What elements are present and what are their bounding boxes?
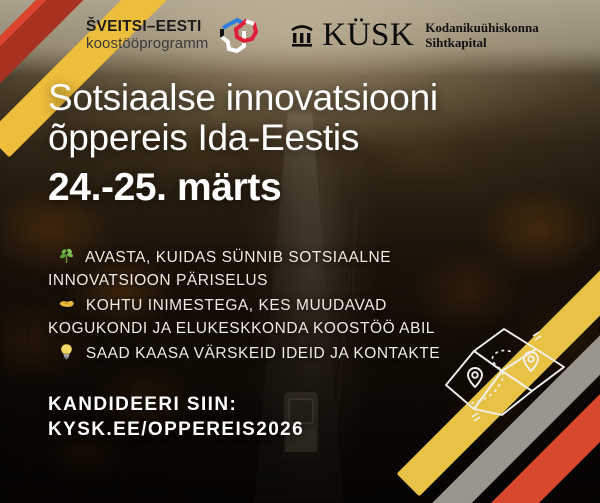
interlocking-octagons-icon	[217, 15, 259, 55]
list-item: SAAD KAASA VÄRSKEID IDEID JA KONTAKTE	[48, 342, 448, 366]
list-item: AVASTA, KUIDAS SÜNNIB SOTSIAALNE INNOVAT…	[48, 246, 448, 293]
kusk-logo: KÜSK Kodanikuühiskonna Sihtkapital	[289, 19, 538, 52]
list-item: KOHTU INIMESTEGA, KES MUUDAVAD KOGUKONDI…	[48, 294, 448, 341]
kusk-subtitle: Kodanikuühiskonna Sihtkapital	[425, 20, 538, 51]
benefit-list: AVASTA, KUIDAS SÜNNIB SOTSIAALNE INNOVAT…	[48, 246, 448, 366]
poster-headline: Sotsiaalse innovatsiooni õppereis Ida-Ee…	[48, 78, 558, 158]
swiss-estonian-logo: ŠVEITSI–EESTI koostööprogramm	[86, 15, 259, 55]
event-date: 24.-25. märts	[48, 168, 558, 209]
kusk-wordmark: KÜSK	[322, 19, 414, 52]
cta-label: KANDIDEERI SIIN:	[48, 392, 558, 417]
swiss-logo-wordmark: ŠVEITSI–EESTI koostööprogramm	[86, 19, 208, 51]
partner-logo-row: ŠVEITSI–EESTI koostööprogramm	[0, 0, 600, 70]
call-to-action[interactable]: KANDIDEERI SIIN: KYSK.EE/OPPEREIS2026	[48, 392, 558, 442]
seedling-icon	[58, 247, 75, 264]
poster-content: Sotsiaalse innovatsiooni õppereis Ida-Ee…	[48, 78, 558, 442]
swiss-logo-line1: ŠVEITSI–EESTI	[86, 19, 208, 35]
kusk-subtitle-line2: Sihtkapital	[425, 35, 538, 50]
list-item-label: AVASTA, KUIDAS SÜNNIB SOTSIAALNE INNOVAT…	[48, 249, 391, 290]
light-bulb-icon	[58, 343, 75, 360]
handshake-icon	[58, 295, 75, 312]
headline-line-2: õppereis Ida-Eestis	[48, 118, 558, 158]
list-item-label: SAAD KAASA VÄRSKEID IDEID JA KONTAKTE	[86, 345, 440, 362]
cta-url[interactable]: KYSK.EE/OPPEREIS2026	[48, 417, 558, 442]
event-poster: ŠVEITSI–EESTI koostööprogramm	[0, 0, 600, 503]
swiss-logo-line2: koostööprogramm	[86, 36, 208, 51]
headline-line-1: Sotsiaalse innovatsiooni	[48, 78, 558, 118]
kusk-subtitle-line1: Kodanikuühiskonna	[425, 20, 538, 35]
classical-building-icon	[289, 22, 315, 48]
list-item-label: KOHTU INIMESTEGA, KES MUUDAVAD KOGUKONDI…	[48, 297, 435, 338]
